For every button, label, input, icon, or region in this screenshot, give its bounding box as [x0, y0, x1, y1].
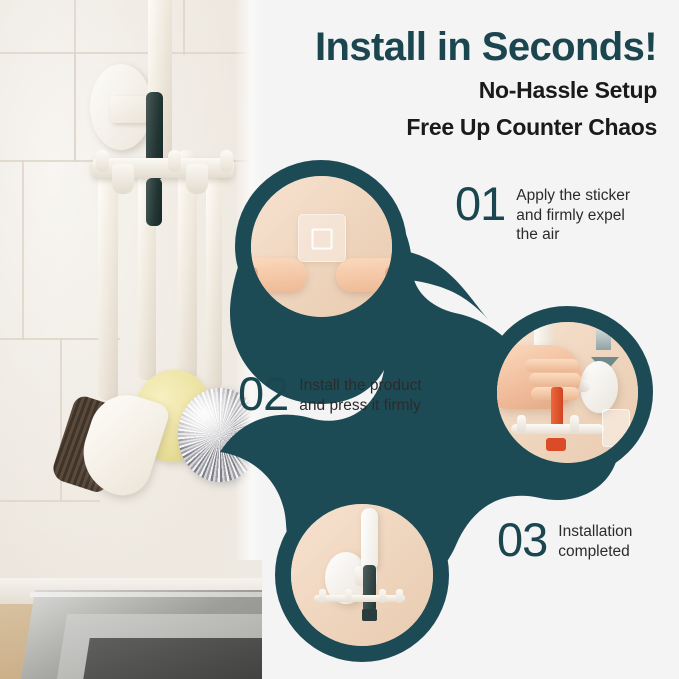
rail-nub: [345, 589, 352, 603]
brush-handle-dark: [363, 565, 376, 612]
infographic-canvas: Install in Seconds! No-Hassle Setup Free…: [0, 0, 679, 679]
step-3-photo: [283, 496, 441, 654]
holder-clip: [186, 164, 208, 194]
rail-nub: [396, 589, 403, 603]
step-3-label: 03 Installation completed: [497, 518, 632, 561]
step-2-label: 02 Install the product and press it firm…: [238, 372, 422, 415]
thumbnail: [249, 267, 258, 279]
step-2-number: 02: [238, 372, 288, 415]
right-thumb: [336, 258, 398, 292]
hand: [489, 345, 581, 409]
rail-nub: [379, 589, 386, 603]
brush-handle: [98, 175, 118, 400]
thumbnail: [385, 267, 394, 279]
subtitle-line-2: Free Up Counter Chaos: [227, 113, 657, 142]
product-photo: [0, 0, 262, 679]
header-block: Install in Seconds! No-Hassle Setup Free…: [227, 26, 657, 142]
brush-foot: [362, 609, 377, 621]
step-2-description: Install the product and press it firmly: [299, 372, 421, 415]
rail-nub: [319, 589, 326, 603]
grout-line: [74, 52, 76, 162]
grout-line: [0, 500, 100, 502]
subtitle-line-1: No-Hassle Setup: [227, 76, 657, 105]
page-title: Install in Seconds!: [227, 26, 657, 68]
step-3-number: 03: [497, 518, 547, 561]
adhesive-sticker: [298, 214, 346, 262]
down-arrow-stem: [596, 330, 611, 350]
brush-handle-white: [361, 508, 378, 570]
sink-highlight: [30, 592, 262, 597]
grout-line: [22, 160, 24, 340]
step-3-description: Installation completed: [558, 518, 632, 561]
step-1-number: 01: [455, 182, 505, 225]
holder-clip: [112, 164, 134, 194]
rail-nub: [220, 150, 233, 172]
grout-line: [183, 0, 185, 55]
transparent-hook: [602, 409, 630, 447]
step-1-description: Apply the sticker and firmly expel the a…: [516, 182, 630, 245]
step-1-label: 01 Apply the sticker and firmly expel th…: [455, 182, 630, 245]
step-2-photo: [489, 314, 646, 471]
step-1-photo: [243, 168, 400, 325]
grout-line: [0, 52, 262, 54]
left-thumb: [245, 258, 307, 292]
scrubber-handle: [206, 165, 222, 390]
sink-basin: [82, 638, 262, 679]
holder-clip: [570, 415, 579, 433]
dark-handle-lower: [146, 178, 162, 226]
rail-nub: [96, 150, 109, 172]
finger: [525, 359, 579, 372]
holder-clip: [517, 415, 526, 433]
finger: [529, 373, 581, 386]
rail-nub: [168, 150, 181, 172]
holder-rail: [314, 595, 405, 602]
red-tool-foot: [546, 438, 566, 451]
